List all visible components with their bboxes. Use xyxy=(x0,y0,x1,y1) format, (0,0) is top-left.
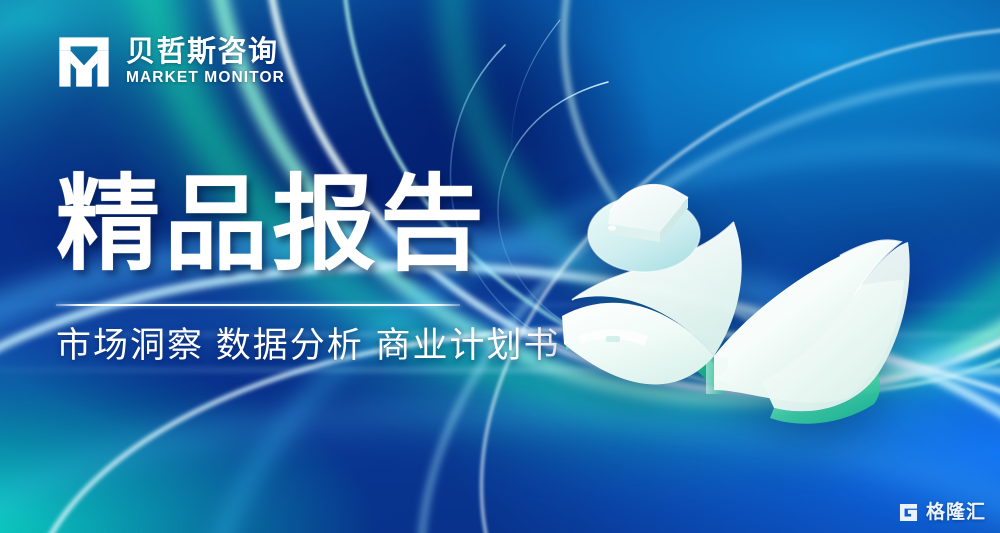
market-monitor-m-logo-icon xyxy=(56,34,112,90)
brand-name-en: MARKET MONITOR xyxy=(126,70,285,86)
brand-name-cn: 贝哲斯咨询 xyxy=(126,38,285,67)
headline-block: 精品报告 市场洞察 数据分析 商业计划书 xyxy=(56,170,576,367)
brand-logo: 贝哲斯咨询 MARKET MONITOR xyxy=(56,34,285,90)
page-subtitle: 市场洞察 数据分析 商业计划书 xyxy=(56,325,576,367)
open-book-with-pie-chart-icon xyxy=(548,150,948,440)
watermark: 格隆汇 xyxy=(898,502,986,523)
page-title: 精品报告 xyxy=(56,170,576,280)
report-cover-banner: 贝哲斯咨询 MARKET MONITOR 精品报告 市场洞察 数据分析 商业计划… xyxy=(0,0,1000,533)
brand-logo-text: 贝哲斯咨询 MARKET MONITOR xyxy=(126,38,285,86)
headline-divider xyxy=(56,304,460,306)
gelonghui-g-logo-icon xyxy=(898,502,919,523)
watermark-label: 格隆汇 xyxy=(926,503,986,522)
